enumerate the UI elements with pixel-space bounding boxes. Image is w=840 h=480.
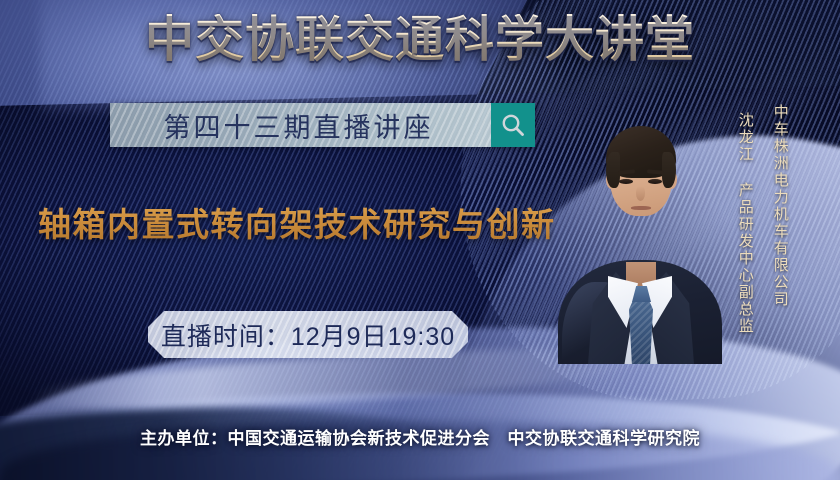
organizers-line: 主办单位：中国交通运输协会新技术促进分会 中交协联交通科学研究院 — [0, 424, 840, 449]
portrait-eye-left — [619, 179, 633, 184]
portrait-mouth — [631, 206, 651, 210]
subtitle-bar: 第四十三期直播讲座 — [110, 103, 535, 147]
promo-poster: 中交协联交通科学大讲堂 第四十三期直播讲座 轴箱内置式转向架技术研究与创新 直播… — [0, 0, 840, 480]
portrait-nose — [636, 186, 645, 201]
search-icon-box — [491, 103, 535, 147]
speaker-portrait — [556, 96, 724, 364]
live-time-badge: 直播时间：12月9日19:30 — [148, 311, 468, 358]
search-icon — [500, 112, 526, 138]
portrait-hair-side-right — [662, 152, 676, 188]
speaker-name-title: 沈龙江 产品研发中心副总监 — [733, 112, 756, 335]
lecture-topic: 轴箱内置式转向架技术研究与创新 — [38, 198, 556, 246]
subtitle-label: 第四十三期直播讲座 — [110, 106, 491, 145]
live-time-label: 直播时间：12月9日19:30 — [161, 317, 455, 353]
page-title: 中交协联交通科学大讲堂 — [0, 14, 840, 67]
portrait-tie — [629, 294, 653, 364]
speaker-company: 中车株洲电力机车有限公司 — [768, 104, 791, 308]
portrait-eye-right — [648, 179, 662, 184]
